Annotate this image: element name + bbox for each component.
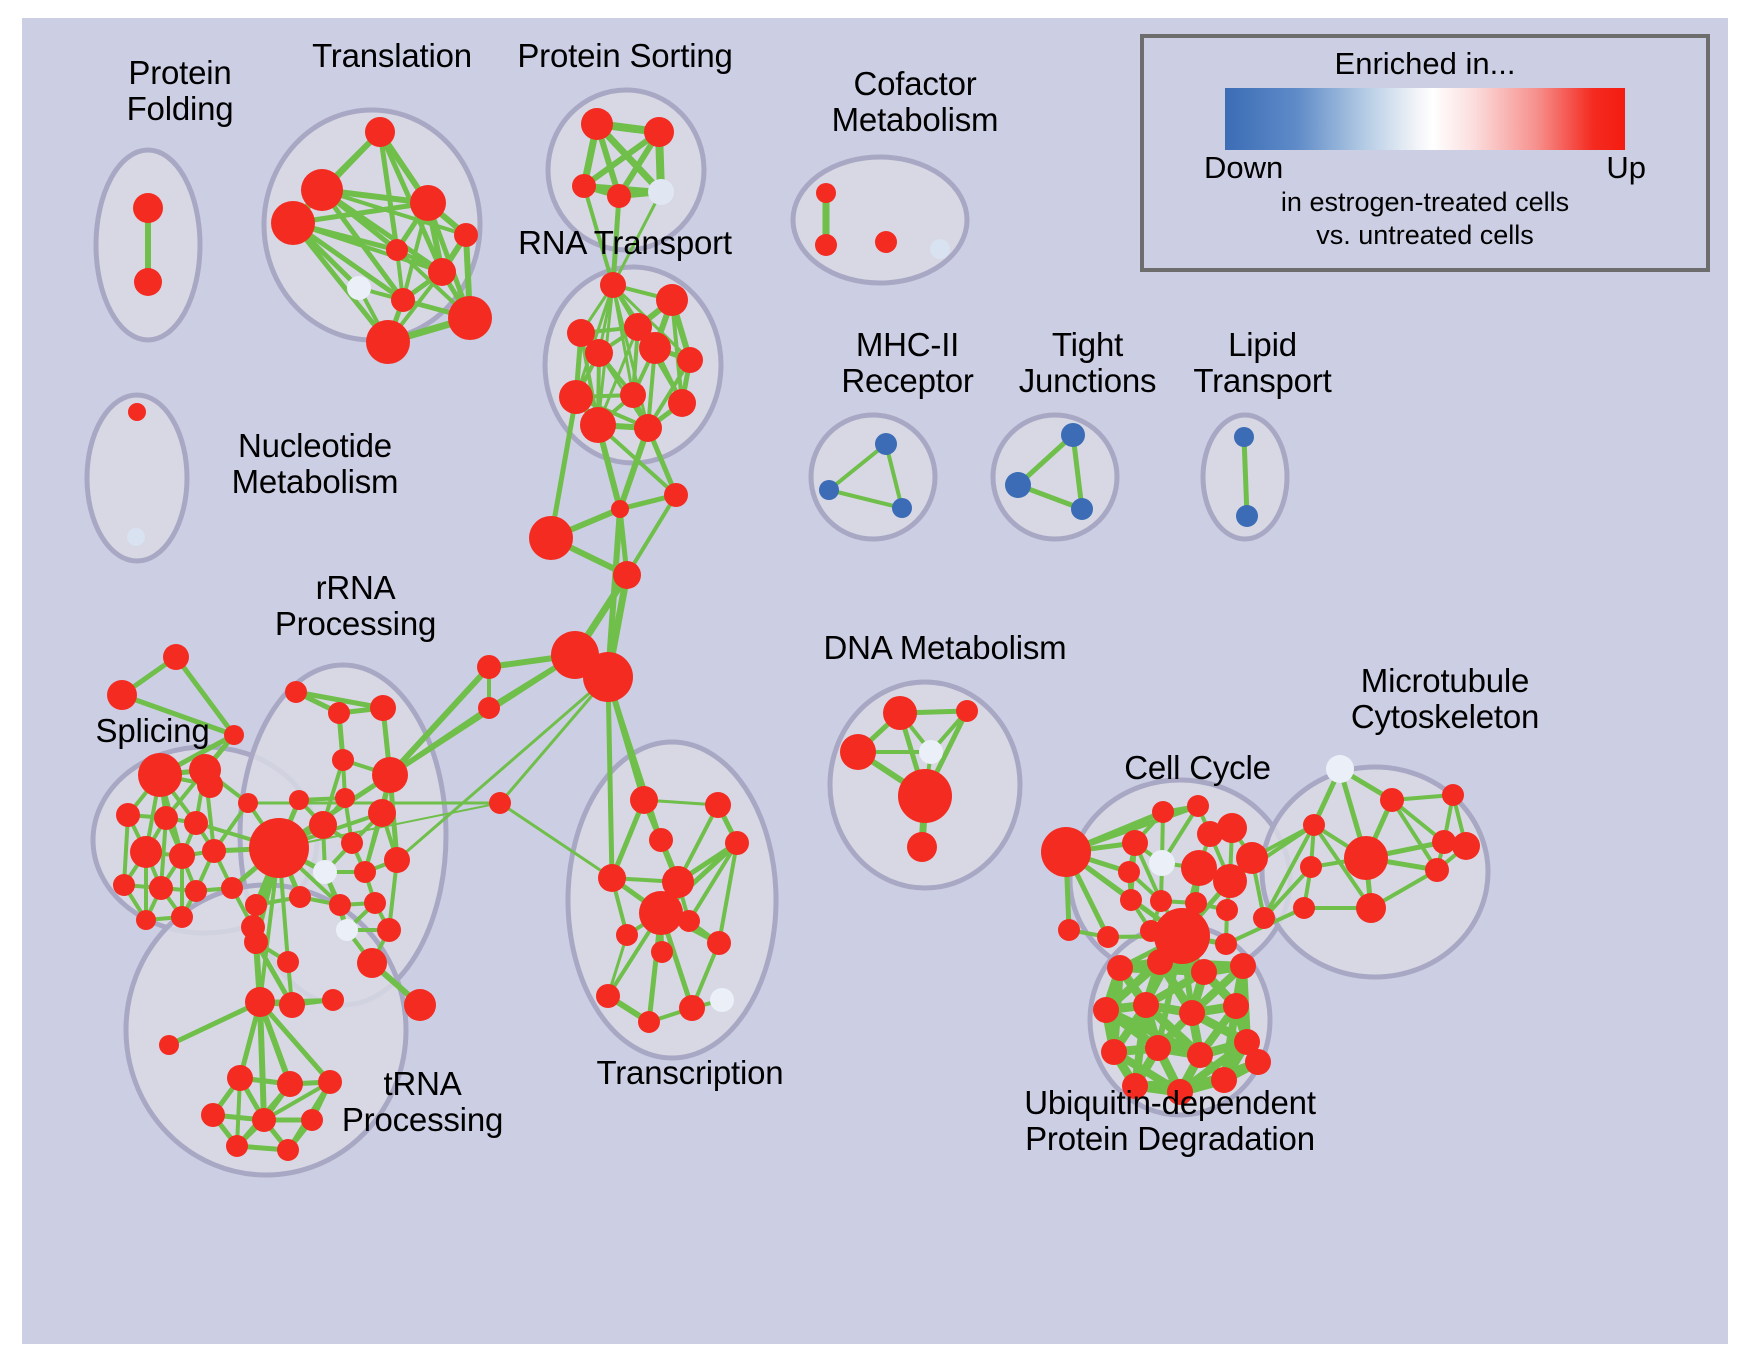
cluster-label-protein-sorting: Protein Sorting [500, 38, 750, 74]
network-node[interactable] [725, 831, 749, 855]
network-node[interactable] [285, 681, 307, 703]
network-node[interactable] [354, 861, 376, 883]
network-node[interactable] [639, 332, 671, 364]
legend-down-label: Down [1204, 150, 1283, 186]
network-node[interactable] [335, 788, 355, 808]
legend-endpoints: Down Up [1204, 150, 1646, 186]
cluster-label-cofactor-metabolism: Cofactor Metabolism [790, 66, 1040, 138]
network-node[interactable] [1197, 821, 1223, 847]
network-node[interactable] [454, 223, 478, 247]
network-node[interactable] [136, 910, 156, 930]
cluster-label-translation: Translation [282, 38, 502, 74]
network-node[interactable] [1147, 949, 1173, 975]
network-node[interactable] [1245, 1049, 1271, 1075]
network-node[interactable] [1058, 919, 1080, 941]
network-node[interactable] [404, 989, 436, 1021]
network-node[interactable] [322, 989, 344, 1011]
network-node[interactable] [245, 894, 267, 916]
network-node[interactable] [1093, 997, 1119, 1023]
network-node[interactable] [1122, 830, 1148, 856]
network-node[interactable] [705, 792, 731, 818]
network-node[interactable] [529, 516, 573, 560]
cluster-label-nucleotide-metabolism: Nucleotide Metabolism [190, 428, 440, 500]
legend-subtitle-2: vs. untreated cells [1204, 219, 1646, 252]
network-node[interactable] [366, 320, 410, 364]
network-node[interactable] [386, 239, 408, 261]
network-node[interactable] [301, 169, 343, 211]
network-node[interactable] [329, 894, 351, 916]
network-node[interactable] [113, 874, 135, 896]
cluster-label-rrna-processing: rRNA Processing [238, 570, 473, 642]
network-node[interactable] [163, 644, 189, 670]
cofactor-hull [793, 157, 967, 283]
network-node[interactable] [365, 117, 395, 147]
network-node[interactable] [116, 803, 140, 827]
network-node[interactable] [428, 258, 456, 286]
network-node[interactable] [189, 754, 221, 786]
network-node[interactable] [384, 847, 410, 873]
network-node[interactable] [656, 284, 688, 316]
network-node[interactable] [244, 930, 268, 954]
network-node[interactable] [1191, 959, 1217, 985]
network-node[interactable] [572, 174, 596, 198]
network-node[interactable] [1152, 801, 1174, 823]
cluster-label-rna-transport: RNA Transport [505, 225, 745, 261]
network-node[interactable] [226, 1135, 248, 1157]
network-node[interactable] [668, 389, 696, 417]
network-node[interactable] [448, 296, 492, 340]
network-node[interactable] [1236, 505, 1258, 527]
network-node[interactable] [1071, 498, 1093, 520]
network-node[interactable] [1120, 889, 1142, 911]
network-node[interactable] [875, 231, 897, 253]
network-node[interactable] [1187, 795, 1209, 817]
network-node[interactable] [238, 793, 258, 813]
network-node[interactable] [184, 811, 208, 835]
figure-canvas: Protein FoldingTranslationProtein Sortin… [0, 0, 1750, 1360]
legend-colorbar [1225, 88, 1625, 150]
network-node[interactable] [598, 864, 626, 892]
network-node[interactable] [1150, 890, 1172, 912]
cluster-label-lipid-transport: Lipid Transport [1155, 327, 1370, 399]
network-node[interactable] [252, 1108, 276, 1132]
network-node[interactable] [202, 839, 226, 863]
network-node[interactable] [245, 987, 275, 1017]
network-node[interactable] [580, 407, 616, 443]
network-node[interactable] [1326, 755, 1354, 783]
network-node[interactable] [309, 811, 337, 839]
network-node[interactable] [149, 876, 173, 900]
network-node[interactable] [677, 347, 703, 373]
network-node[interactable] [277, 951, 299, 973]
network-node[interactable] [581, 108, 613, 140]
network-edge [260, 1002, 264, 1120]
network-node[interactable] [620, 382, 646, 408]
cluster-label-transcription: Transcription [565, 1055, 815, 1091]
network-node[interactable] [1344, 836, 1388, 880]
network-node[interactable] [634, 414, 662, 442]
network-node[interactable] [1181, 850, 1217, 886]
network-node[interactable] [559, 380, 593, 414]
network-node[interactable] [707, 931, 731, 955]
network-node[interactable] [664, 483, 688, 507]
mhc-hull [811, 415, 935, 539]
network-edge [1244, 437, 1247, 516]
network-node[interactable] [1425, 858, 1449, 882]
network-node[interactable] [159, 1035, 179, 1055]
network-node[interactable] [368, 799, 396, 827]
network-node[interactable] [679, 995, 705, 1021]
network-node[interactable] [649, 828, 673, 852]
network-node[interactable] [477, 655, 501, 679]
network-node[interactable] [1380, 788, 1404, 812]
network-node[interactable] [1300, 856, 1322, 878]
network-node[interactable] [1223, 993, 1249, 1019]
cluster-label-splicing: Splicing [55, 713, 250, 749]
network-node[interactable] [1107, 955, 1133, 981]
network-node[interactable] [410, 185, 446, 221]
network-node[interactable] [1061, 423, 1085, 447]
network-node[interactable] [892, 498, 912, 518]
network-node[interactable] [357, 948, 387, 978]
network-node[interactable] [611, 500, 629, 518]
network-node[interactable] [930, 239, 950, 259]
network-node[interactable] [171, 906, 193, 928]
legend-title: Enriched in... [1204, 46, 1646, 82]
legend-up-label: Up [1606, 150, 1646, 186]
network-node[interactable] [1216, 899, 1238, 921]
network-node[interactable] [289, 790, 309, 810]
network-node[interactable] [898, 769, 952, 823]
network-node[interactable] [607, 184, 631, 208]
network-node[interactable] [585, 339, 613, 367]
network-node[interactable] [1442, 784, 1464, 806]
network-node[interactable] [883, 696, 917, 730]
network-node[interactable] [221, 877, 243, 899]
network-node[interactable] [364, 892, 386, 914]
network-node[interactable] [1253, 907, 1275, 929]
network-node[interactable] [336, 919, 358, 941]
network-node[interactable] [710, 988, 734, 1012]
network-node[interactable] [639, 891, 683, 935]
network-node[interactable] [185, 880, 207, 902]
network-node[interactable] [819, 480, 839, 500]
network-node[interactable] [1145, 1035, 1171, 1061]
network-node[interactable] [1149, 850, 1175, 876]
network-node[interactable] [313, 860, 337, 884]
network-node[interactable] [289, 886, 311, 908]
network-node[interactable] [1303, 814, 1325, 836]
cluster-label-cell-cycle: Cell Cycle [1090, 750, 1305, 786]
network-node[interactable] [328, 702, 350, 724]
network-node[interactable] [1097, 926, 1119, 948]
network-node[interactable] [249, 818, 309, 878]
network-node[interactable] [489, 792, 511, 814]
network-node[interactable] [596, 984, 620, 1008]
network-node[interactable] [815, 234, 837, 256]
cluster-label-trna-processing: tRNA Processing [300, 1066, 545, 1138]
network-node[interactable] [127, 528, 145, 546]
network-node[interactable] [341, 832, 363, 854]
network-node[interactable] [1230, 953, 1256, 979]
network-node[interactable] [1215, 933, 1237, 955]
network-node[interactable] [840, 734, 876, 770]
network-node[interactable] [128, 403, 146, 421]
network-node[interactable] [1133, 992, 1159, 1018]
network-node[interactable] [648, 179, 674, 205]
network-node[interactable] [613, 561, 641, 589]
network-node[interactable] [1293, 897, 1315, 919]
network-node[interactable] [201, 1103, 225, 1127]
network-node[interactable] [1213, 864, 1247, 898]
network-node[interactable] [130, 836, 162, 868]
cluster-label-microtubule-cytoskeleton: Microtubule Cytoskeleton [1300, 663, 1590, 735]
network-node[interactable] [391, 288, 415, 312]
cluster-label-protein-folding: Protein Folding [80, 55, 280, 127]
network-node[interactable] [1452, 832, 1480, 860]
network-node[interactable] [616, 924, 638, 946]
network-node[interactable] [1432, 830, 1456, 854]
network-node[interactable] [277, 1139, 299, 1161]
network-node[interactable] [332, 749, 354, 771]
network-node[interactable] [370, 695, 396, 721]
network-node[interactable] [377, 918, 401, 942]
network-node[interactable] [169, 843, 195, 869]
network-node[interactable] [816, 183, 836, 203]
network-node[interactable] [875, 433, 897, 455]
network-node[interactable] [1234, 427, 1254, 447]
network-node[interactable] [1041, 827, 1091, 877]
network-node[interactable] [956, 700, 978, 722]
network-node[interactable] [372, 757, 408, 793]
cluster-label-dna-metabolism: DNA Metabolism [800, 630, 1090, 666]
network-node[interactable] [600, 272, 626, 298]
network-node[interactable] [583, 652, 633, 702]
network-node[interactable] [1101, 1039, 1127, 1065]
network-node[interactable] [134, 268, 162, 296]
network-node[interactable] [227, 1065, 253, 1091]
network-node[interactable] [347, 276, 371, 300]
network-node[interactable] [138, 753, 182, 797]
cluster-label-ubiquitin-degradation: Ubiquitin-dependent Protein Degradation [990, 1085, 1350, 1157]
network-node[interactable] [1187, 1042, 1213, 1068]
network-node[interactable] [1179, 1000, 1205, 1026]
network-node[interactable] [1356, 893, 1386, 923]
network-node[interactable] [478, 697, 500, 719]
network-node[interactable] [133, 193, 163, 223]
network-node[interactable] [907, 832, 937, 862]
network-node[interactable] [1005, 472, 1031, 498]
network-node[interactable] [630, 786, 658, 814]
network-node[interactable] [919, 740, 943, 764]
network-node[interactable] [107, 680, 137, 710]
legend-box: Enriched in... Down Up in estrogen-treat… [1140, 34, 1710, 272]
network-node[interactable] [638, 1011, 660, 1033]
legend-subtitle-1: in estrogen-treated cells [1204, 186, 1646, 219]
network-node[interactable] [644, 117, 674, 147]
network-node[interactable] [271, 201, 315, 245]
network-node[interactable] [279, 992, 305, 1018]
network-node[interactable] [154, 806, 178, 830]
network-node[interactable] [1118, 861, 1140, 883]
network-node[interactable] [651, 941, 673, 963]
